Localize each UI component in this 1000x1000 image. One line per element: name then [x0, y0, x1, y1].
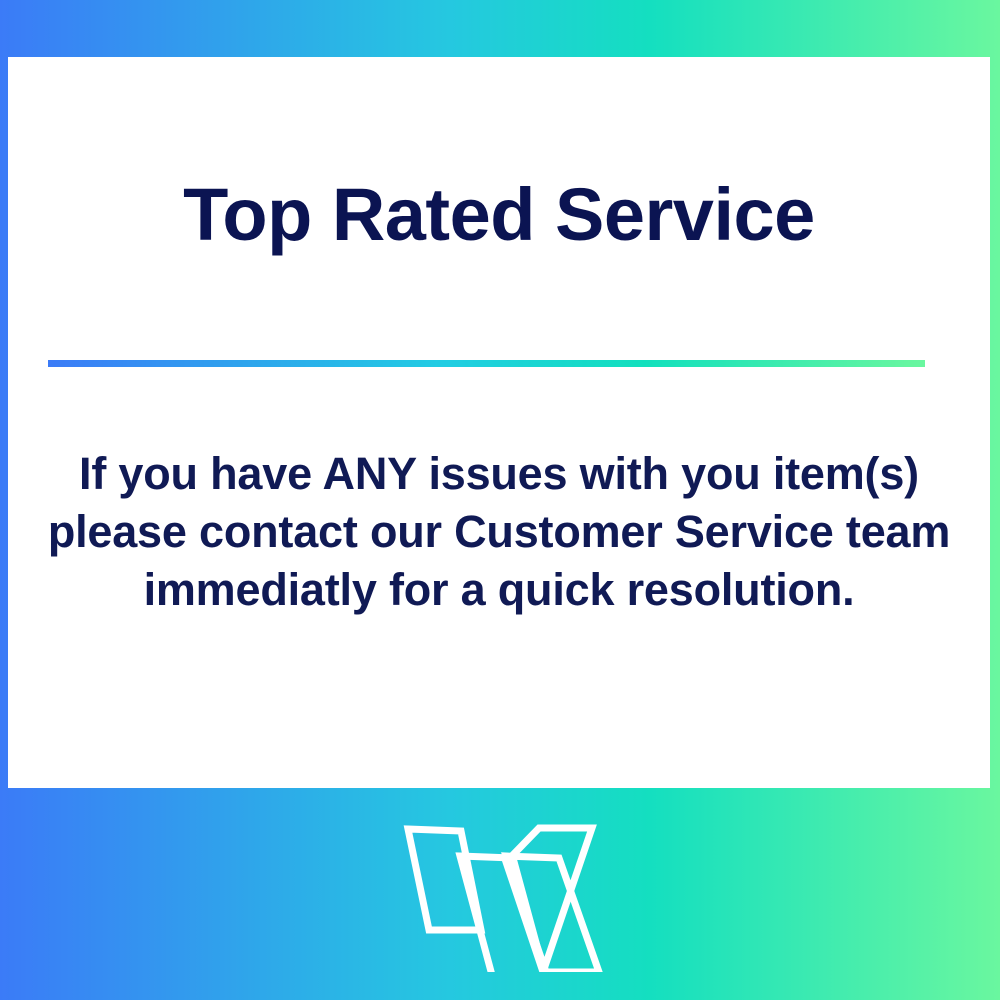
w-monogram-icon [388, 812, 612, 972]
gradient-divider [48, 360, 925, 367]
brand-logo [388, 812, 612, 972]
page-title: Top Rated Service [8, 178, 990, 252]
message-card-content: Top Rated Service If you have ANY issues… [8, 57, 990, 788]
promo-poster: Top Rated Service If you have ANY issues… [0, 0, 1000, 1000]
body-copy-line-2: please contact our Customer Service team [30, 503, 968, 561]
body-copy-line-3: immediatly for a quick resolution. [30, 561, 968, 619]
body-copy: If you have ANY issues with you item(s) … [30, 445, 968, 619]
message-card: Top Rated Service If you have ANY issues… [8, 57, 990, 788]
body-copy-line-1: If you have ANY issues with you item(s) [30, 445, 968, 503]
